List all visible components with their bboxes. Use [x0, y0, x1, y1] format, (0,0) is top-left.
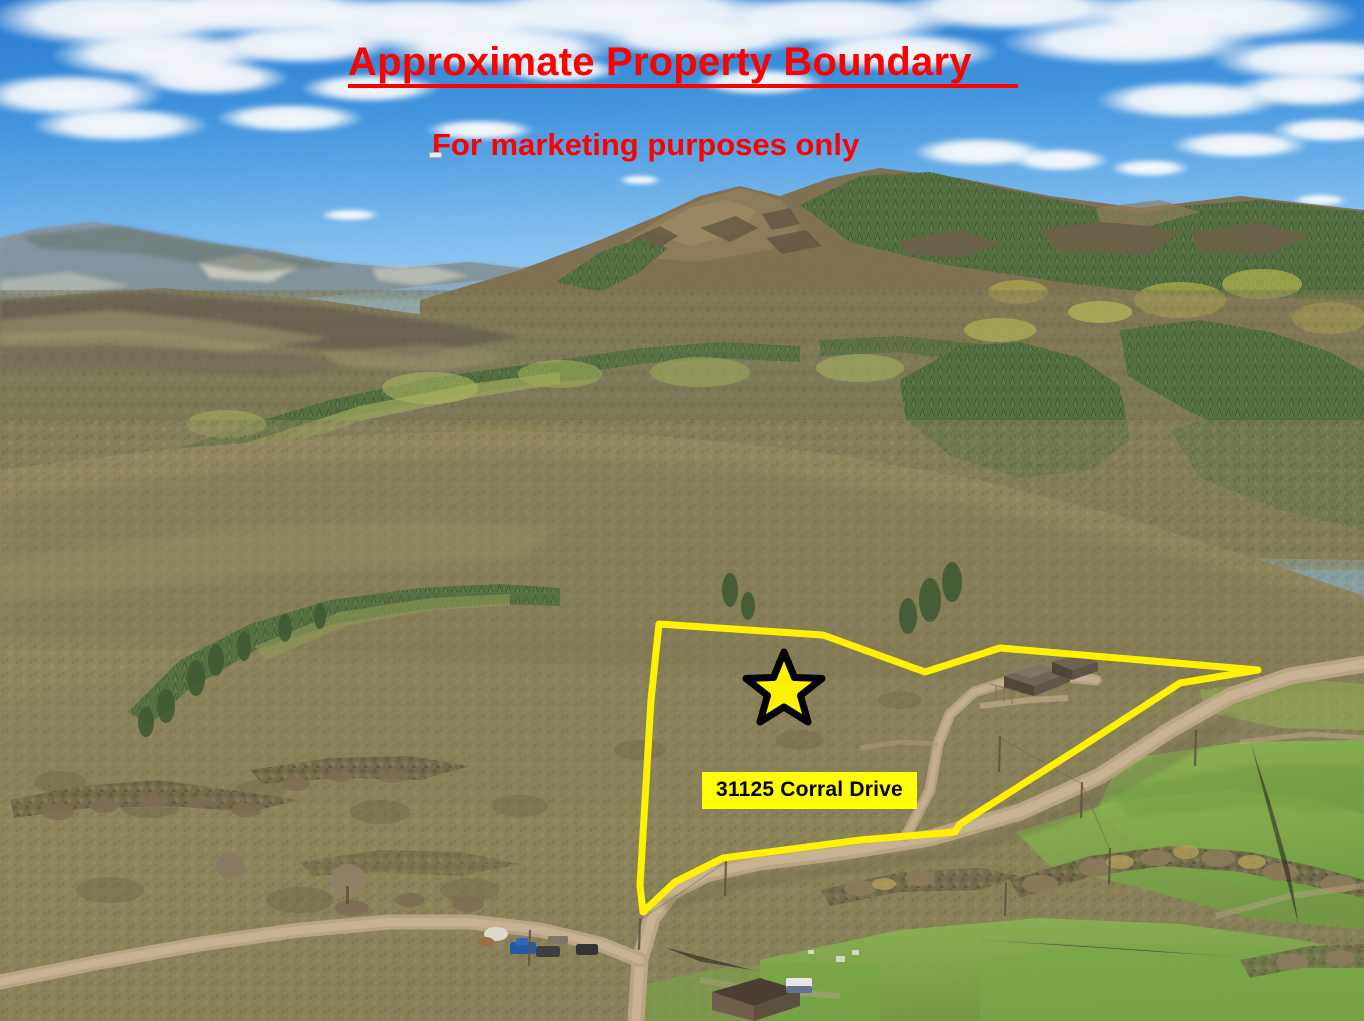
subtitle-marker-artifact — [429, 152, 442, 158]
page-subtitle: For marketing purposes only — [432, 127, 859, 163]
property-photo-annotated: Approximate Property Boundary For market… — [0, 0, 1364, 1021]
page-title: Approximate Property Boundary — [348, 40, 972, 84]
address-label: 31125 Corral Drive — [702, 772, 917, 809]
title-underline — [348, 84, 1018, 88]
